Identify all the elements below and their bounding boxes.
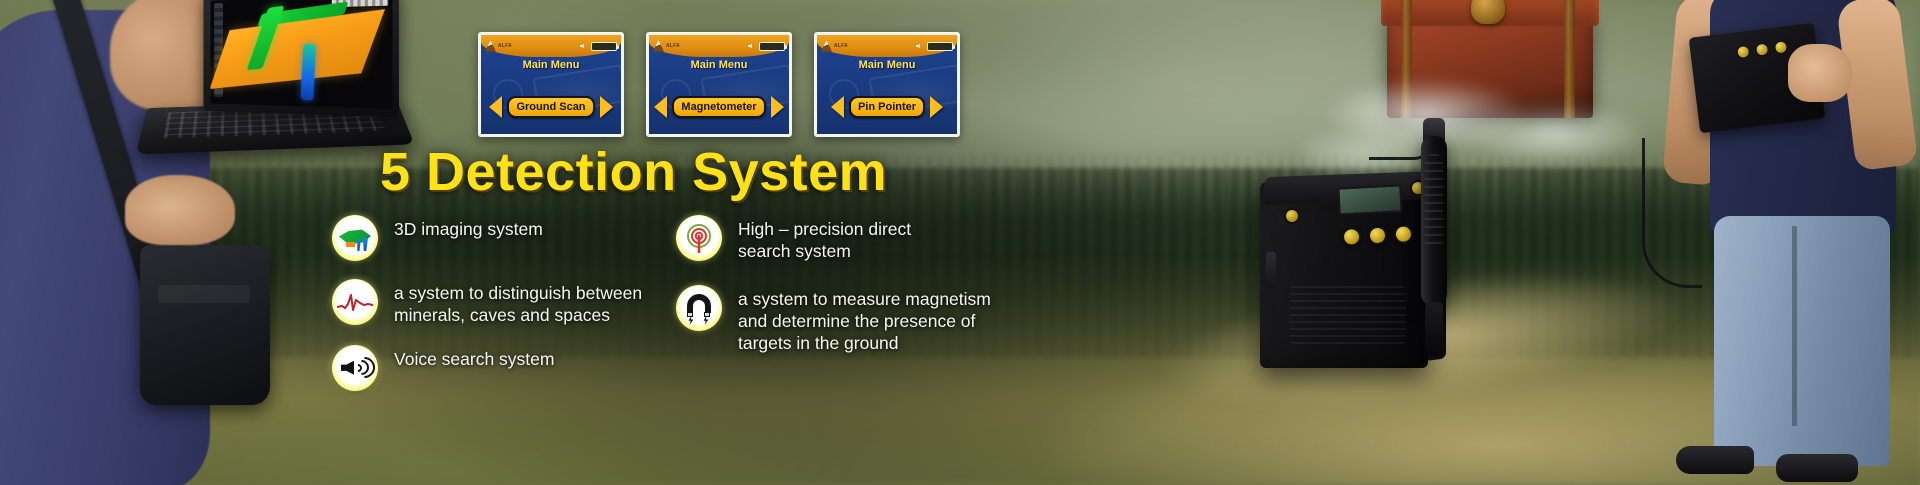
feature-item-high-precision-search: High – precision direct search system: [676, 215, 1096, 263]
device-status-indicators: [748, 42, 785, 51]
left-arrow-icon[interactable]: [654, 96, 667, 118]
laptop-screen: [211, 0, 393, 109]
detector-latch: [1266, 252, 1276, 288]
rod-grip: [1421, 136, 1447, 306]
detector-knob-row: [1342, 224, 1414, 247]
logo-text: ALFA: [834, 43, 848, 49]
device-mode-selector: Magnetometer: [649, 96, 789, 118]
battery-icon: [591, 42, 617, 51]
rod-tip: [1425, 302, 1443, 356]
speaker-icon: [916, 42, 924, 50]
chest-body: [1387, 14, 1593, 118]
detection-system-banner: ALFA Main Menu Ground Scan: [0, 0, 1920, 485]
operator-right-shoe-left: [1676, 446, 1754, 474]
mode-button-ground-scan[interactable]: Ground Scan: [507, 96, 594, 118]
feature-item-mineral-discrimination: a system to distinguish between minerals…: [332, 279, 732, 327]
scan-anomaly-depth: [300, 44, 316, 101]
feature-list-right: High – precision direct search system a …: [676, 215, 1096, 372]
mode-button-magnetometer[interactable]: Magnetometer: [672, 96, 765, 118]
device-screens-group: ALFA Main Menu Ground Scan: [478, 32, 960, 137]
logo-text: ALFA: [498, 43, 512, 49]
speaker-icon: [332, 345, 378, 391]
device-logo: ALFA: [821, 41, 848, 52]
logo-mark-icon: [821, 41, 832, 52]
device-screen-ground-scan[interactable]: ALFA Main Menu Ground Scan: [478, 32, 624, 137]
handheld-knob-row: [1736, 40, 1788, 59]
operator-right: [1614, 0, 1920, 485]
laptop-lid: [204, 0, 399, 117]
device-screen-pin-pointer[interactable]: ALFA Main Menu Pin Pointer: [814, 32, 960, 137]
detector-knob-1[interactable]: [1342, 227, 1362, 247]
waveform-glyph: [337, 291, 373, 313]
right-arrow-icon[interactable]: [930, 96, 943, 118]
3d-imaging-icon: [332, 215, 378, 261]
feature-label: a system to measure magnetism and determ…: [738, 285, 991, 355]
device-mode-selector: Pin Pointer: [817, 96, 957, 118]
detector-knob-left: [1284, 208, 1300, 224]
feature-label: 3D imaging system: [394, 215, 543, 241]
feature-label: High – precision direct search system: [738, 215, 911, 263]
speaker-wave-3: [350, 352, 378, 382]
detector-display: [1337, 184, 1402, 215]
signal-target-icon: [676, 215, 722, 261]
magnet-bolt-right: [703, 316, 709, 325]
magnet-horseshoe: [687, 294, 711, 313]
page-title: 5 Detection System: [380, 141, 887, 203]
chest-lock-icon: [1471, 0, 1505, 24]
logo-text: ALFA: [666, 43, 680, 49]
detector-vent-ribs: [1290, 286, 1406, 344]
right-arrow-icon[interactable]: [600, 96, 613, 118]
logo-mark-icon: [485, 41, 496, 52]
device-status-indicators: [580, 42, 617, 51]
handheld-knob-2: [1755, 42, 1769, 56]
operator-left-bag: [140, 245, 270, 405]
operator-left-hand: [125, 175, 235, 245]
device-screen-magnetometer[interactable]: ALFA Main Menu Magnetometer: [646, 32, 792, 137]
device-menu-title: Main Menu: [649, 59, 789, 71]
detector-knob-2[interactable]: [1368, 226, 1388, 246]
left-arrow-icon[interactable]: [831, 96, 844, 118]
magnet-pole-right: [704, 312, 710, 317]
speaker-icon: [580, 42, 588, 50]
laptop-3d-scan: [148, 0, 398, 167]
pinpointer-rod: [1411, 118, 1455, 358]
feature-list-left: 3D imaging system a system to distinguis…: [332, 215, 732, 409]
waveform-icon: [332, 279, 378, 325]
device-status-indicators: [916, 42, 953, 51]
device-menu-title: Main Menu: [817, 59, 957, 71]
device-logo: ALFA: [653, 41, 680, 52]
device-logo: ALFA: [485, 41, 512, 52]
magnet-glyph: [687, 294, 711, 322]
3d-imaging-probe-1: [357, 239, 361, 251]
operator-right-cable: [1642, 138, 1702, 288]
operator-right-shoe-right: [1776, 454, 1858, 482]
3d-imaging-hotspot: [346, 242, 355, 247]
handheld-knob-1: [1736, 45, 1750, 59]
treasure-chest: [1375, 0, 1605, 134]
magnet-bolt-left: [688, 316, 694, 325]
battery-icon: [927, 42, 953, 51]
handheld-knob-3: [1774, 40, 1788, 54]
chest-band-right: [1564, 0, 1575, 118]
signal-target-glyph: [684, 223, 714, 253]
magnet-pole-left: [687, 312, 693, 317]
feature-item-3d-imaging: 3D imaging system: [332, 215, 732, 261]
operator-right-hand: [1788, 44, 1852, 102]
mode-button-pin-pointer[interactable]: Pin Pointer: [849, 96, 925, 118]
speaker-icon: [748, 42, 756, 50]
right-arrow-icon[interactable]: [771, 96, 784, 118]
operator-right-jeans: [1714, 216, 1890, 466]
device-mode-selector: Ground Scan: [481, 96, 621, 118]
feature-item-voice-search: Voice search system: [332, 345, 732, 391]
device-menu-title: Main Menu: [481, 59, 621, 71]
speaker-glyph: [341, 357, 371, 379]
feature-item-magnetism: a system to measure magnetism and determ…: [676, 285, 1096, 355]
feature-label: Voice search system: [394, 345, 554, 371]
magnet-icon: [676, 285, 722, 331]
left-arrow-icon[interactable]: [489, 96, 502, 118]
3d-imaging-probe-2: [363, 238, 368, 251]
logo-mark-icon: [653, 41, 664, 52]
feature-label: a system to distinguish between minerals…: [394, 279, 642, 327]
battery-icon: [759, 42, 785, 51]
chest-band-left: [1401, 0, 1412, 118]
